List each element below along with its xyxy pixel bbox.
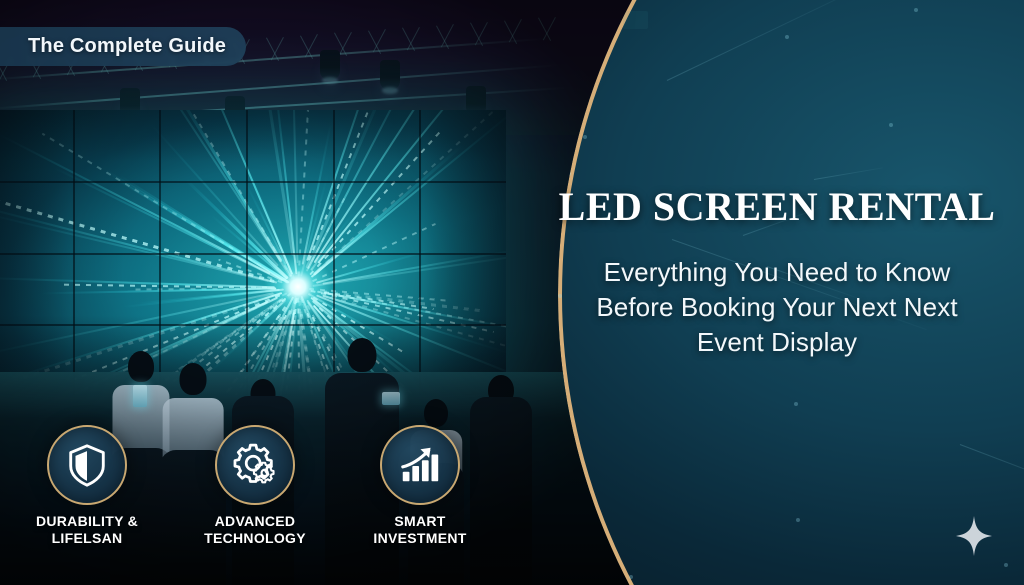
feature-badge-row: DURABILITY & LIFELSAN ADVANCED (0, 420, 520, 585)
feature-smart-investment-label: SMART INVESTMENT (335, 513, 505, 546)
circuit-node (794, 402, 798, 406)
circuit-node (889, 123, 893, 127)
growth-chart-icon (397, 442, 443, 488)
feature-durability[interactable]: DURABILITY & LIFELSAN (2, 425, 172, 546)
feature-label-line-1: SMART (394, 513, 445, 529)
led-video-wall (0, 110, 506, 395)
stage-light-icon (320, 50, 340, 80)
person-head (180, 363, 207, 395)
person-head (128, 351, 154, 382)
hero-text-block: LED SCREEN RENTAL Everything You Need to… (530, 185, 1024, 359)
circuit-node (1004, 563, 1008, 567)
feature-durability-label: DURABILITY & LIFELSAN (2, 513, 172, 546)
hero-subtitle-line-2: Before Booking Your Next Next (596, 292, 957, 322)
circuit-node (914, 8, 918, 12)
feature-label-line-2: INVESTMENT (373, 530, 466, 546)
gears-icon (231, 441, 279, 489)
feature-label-line-2: TECHNOLOGY (204, 530, 306, 546)
shield-icon (64, 442, 110, 488)
circuit-link (667, 0, 862, 81)
circuit-link (814, 167, 884, 180)
feature-advanced-technology[interactable]: ADVANCED TECHNOLOGY (170, 425, 340, 546)
wall-shading-overlay (0, 110, 506, 395)
hero-subtitle: Everything You Need to Know Before Booki… (530, 255, 1024, 359)
person-head (348, 338, 377, 372)
poster-canvas: The Complete Guide LED SCREEN RENTAL Eve… (0, 0, 1024, 585)
four-point-star-icon (956, 516, 992, 561)
page-title: LED SCREEN RENTAL (530, 185, 1024, 229)
shield-icon-ring (47, 425, 127, 505)
stage-light-icon (380, 60, 400, 90)
circuit-node (796, 518, 800, 522)
circuit-node (785, 35, 789, 39)
gears-icon-ring (215, 425, 295, 505)
feature-label-line-1: ADVANCED (215, 513, 296, 529)
guide-badge-label: The Complete Guide (28, 35, 226, 58)
feature-advanced-technology-label: ADVANCED TECHNOLOGY (170, 513, 340, 546)
hero-subtitle-line-3: Event Display (697, 327, 857, 357)
circuit-link (960, 444, 1024, 506)
tablet-screen-glow (382, 392, 400, 405)
feature-label-line-1: DURABILITY & (36, 513, 138, 529)
feature-label-line-2: LIFELSAN (52, 530, 123, 546)
feature-smart-investment[interactable]: SMART INVESTMENT (335, 425, 505, 546)
guide-badge[interactable]: The Complete Guide (0, 27, 246, 66)
growth-chart-icon-ring (380, 425, 460, 505)
phone-screen-glow (133, 385, 147, 407)
hero-subtitle-line-1: Everything You Need to Know (604, 257, 951, 287)
